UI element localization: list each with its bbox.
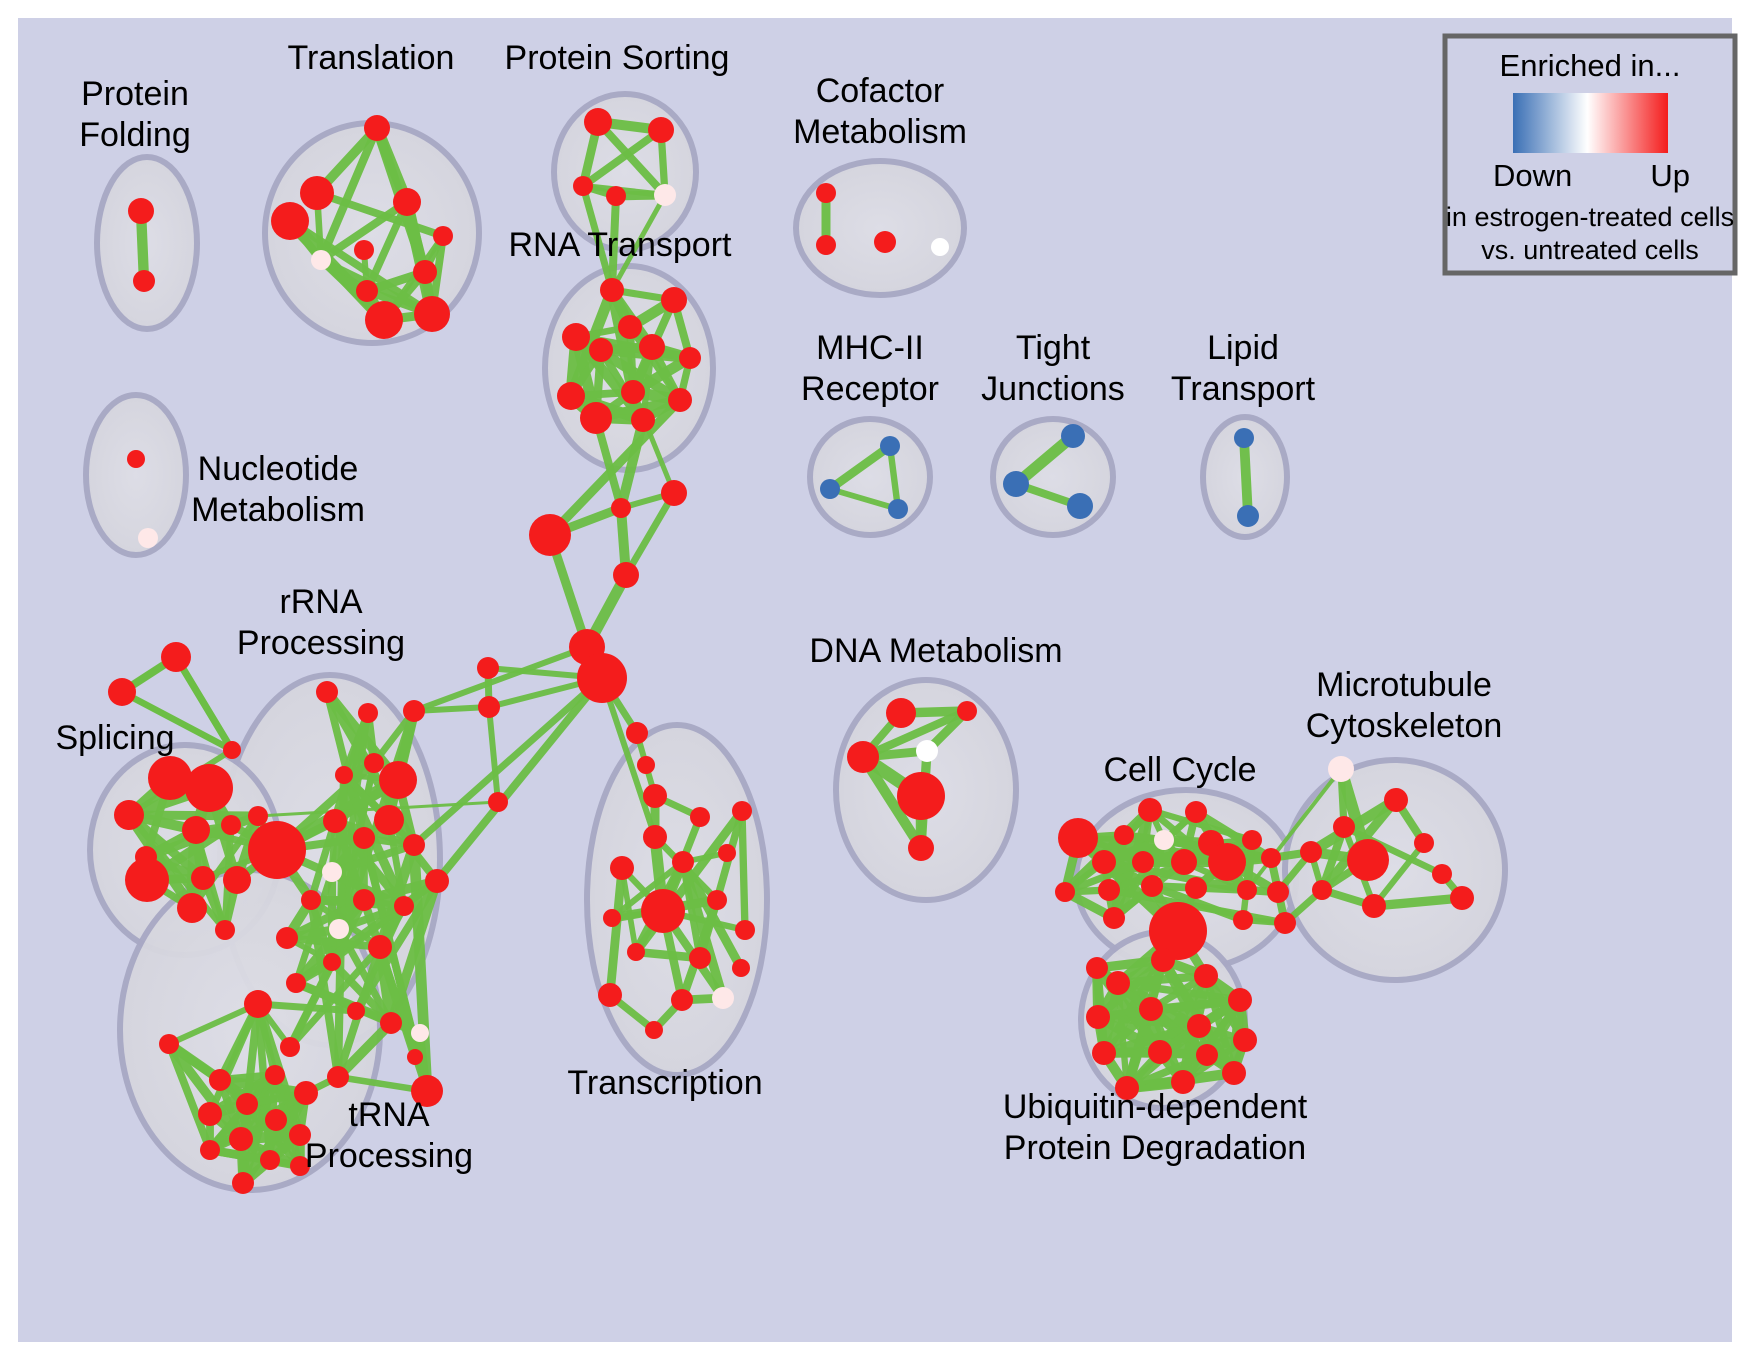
network-node xyxy=(1242,830,1262,850)
network-node xyxy=(908,835,934,861)
network-node xyxy=(433,226,453,246)
network-node xyxy=(1114,825,1134,845)
network-node xyxy=(354,240,374,260)
network-node xyxy=(584,108,612,136)
network-node xyxy=(1261,848,1281,868)
network-node xyxy=(286,973,306,993)
network-node xyxy=(185,764,233,812)
network-node xyxy=(626,722,648,744)
network-node xyxy=(1228,988,1252,1012)
network-node xyxy=(1098,879,1120,901)
network-node xyxy=(645,1021,663,1039)
network-node xyxy=(353,889,375,911)
network-node xyxy=(198,1102,222,1126)
network-node xyxy=(380,1012,402,1034)
network-node xyxy=(1234,428,1254,448)
network-node xyxy=(364,753,384,773)
network-node xyxy=(643,825,667,849)
network-node xyxy=(603,909,621,927)
network-node xyxy=(1362,894,1386,918)
network-node xyxy=(1151,948,1175,972)
network-node xyxy=(413,260,437,284)
network-node xyxy=(1171,849,1197,875)
network-node xyxy=(248,806,268,826)
network-node xyxy=(356,280,378,302)
network-node xyxy=(880,436,900,456)
network-node xyxy=(689,947,711,969)
network-node xyxy=(732,801,752,821)
network-node xyxy=(668,388,692,412)
network-node xyxy=(1450,886,1474,910)
network-node xyxy=(128,198,154,224)
cluster-label-translation: Translation xyxy=(288,39,455,77)
network-node xyxy=(191,866,215,890)
network-node xyxy=(200,1140,220,1160)
legend-title: Enriched in... xyxy=(1500,48,1681,83)
network-node xyxy=(236,1093,258,1115)
legend-up-label: Up xyxy=(1650,158,1690,193)
network-node xyxy=(621,380,645,404)
network-node xyxy=(161,642,191,672)
network-node xyxy=(1092,1041,1116,1065)
network-node xyxy=(1067,493,1093,519)
network-node xyxy=(276,927,298,949)
network-node xyxy=(335,766,353,784)
network-node xyxy=(1233,910,1253,930)
network-diagram: ProteinFoldingTranslationProtein Sorting… xyxy=(0,0,1750,1360)
network-node xyxy=(368,935,392,959)
network-node xyxy=(610,856,634,880)
network-node xyxy=(847,741,879,773)
network-node xyxy=(1237,880,1257,900)
cluster-mhc-ii-receptor xyxy=(810,419,930,535)
network-node xyxy=(600,278,624,302)
network-node xyxy=(690,807,710,827)
network-node xyxy=(1222,1061,1246,1085)
network-node xyxy=(820,479,840,499)
network-node xyxy=(138,528,158,548)
network-node xyxy=(1132,851,1154,873)
network-node xyxy=(127,450,145,468)
network-node xyxy=(403,700,425,722)
network-node xyxy=(403,834,425,856)
network-node xyxy=(323,809,347,833)
network-node xyxy=(114,800,144,830)
network-node xyxy=(300,176,334,210)
network-node xyxy=(488,792,508,812)
network-edge xyxy=(414,707,489,711)
network-node xyxy=(1139,997,1163,1021)
network-node xyxy=(125,858,169,902)
cluster-label-rna-transport: RNA Transport xyxy=(509,226,733,264)
network-node xyxy=(707,890,727,910)
network-node xyxy=(393,188,421,216)
network-node xyxy=(816,183,836,203)
network-node xyxy=(1148,1040,1172,1064)
network-node xyxy=(407,1049,423,1065)
network-node xyxy=(639,334,665,360)
network-node xyxy=(598,983,622,1007)
network-node xyxy=(322,862,342,882)
network-node xyxy=(1055,882,1075,902)
cluster-label-protein-sorting: Protein Sorting xyxy=(505,39,730,77)
network-node xyxy=(672,851,694,873)
network-node xyxy=(425,869,449,893)
network-edge xyxy=(1244,438,1248,516)
network-node xyxy=(874,231,896,253)
network-edge xyxy=(129,815,258,816)
network-node xyxy=(1208,843,1246,881)
network-node xyxy=(957,701,977,721)
network-node xyxy=(888,499,908,519)
network-node xyxy=(679,347,701,369)
network-node xyxy=(606,186,626,206)
network-node xyxy=(1103,907,1125,929)
network-node xyxy=(365,301,403,339)
network-node xyxy=(414,296,450,332)
network-node xyxy=(618,315,642,339)
network-node xyxy=(557,382,585,410)
network-edge xyxy=(742,811,745,930)
network-node xyxy=(1347,839,1389,881)
network-node xyxy=(1328,756,1354,782)
network-node xyxy=(1300,841,1322,863)
network-node xyxy=(1414,833,1434,853)
network-node xyxy=(301,890,321,910)
network-node xyxy=(1312,880,1332,900)
network-node xyxy=(209,1069,231,1091)
network-node xyxy=(1237,505,1259,527)
network-node xyxy=(271,202,309,240)
network-node xyxy=(311,250,331,270)
network-node xyxy=(1187,1014,1211,1038)
network-node xyxy=(260,1150,280,1170)
network-node xyxy=(648,117,674,143)
network-node xyxy=(294,1081,318,1105)
network-node xyxy=(265,1065,285,1085)
figure-canvas: ProteinFoldingTranslationProtein Sorting… xyxy=(0,0,1750,1360)
network-node xyxy=(1106,971,1130,995)
network-node xyxy=(244,990,272,1018)
legend-caption-line1: in estrogen-treated cells xyxy=(1446,202,1734,232)
network-node xyxy=(641,889,685,933)
network-node xyxy=(1274,912,1296,934)
network-node xyxy=(661,287,687,313)
network-node xyxy=(477,657,499,679)
network-node xyxy=(347,1002,365,1020)
network-node xyxy=(1196,1044,1218,1066)
network-node xyxy=(221,815,241,835)
network-node xyxy=(374,805,404,835)
network-node xyxy=(637,756,655,774)
network-node xyxy=(1194,964,1218,988)
network-node xyxy=(280,1037,300,1057)
network-node xyxy=(718,844,736,862)
network-node xyxy=(916,740,938,762)
network-node xyxy=(631,408,655,432)
network-node xyxy=(1086,1005,1110,1029)
cluster-nucleotide-metabolism xyxy=(86,395,186,555)
network-node xyxy=(329,919,349,939)
network-node xyxy=(1141,875,1163,897)
network-node xyxy=(573,176,593,196)
network-node xyxy=(562,323,590,351)
network-node xyxy=(1003,471,1029,497)
network-node xyxy=(182,816,210,844)
network-node xyxy=(735,920,755,940)
network-node xyxy=(353,827,375,849)
network-node xyxy=(931,238,949,256)
network-node xyxy=(1154,830,1174,850)
network-node xyxy=(327,1066,349,1088)
network-node xyxy=(661,480,687,506)
network-node xyxy=(1058,818,1098,858)
legend-down-label: Down xyxy=(1493,158,1572,193)
cluster-label-splicing: Splicing xyxy=(55,719,174,757)
network-node xyxy=(133,270,155,292)
cluster-label-cell-cycle: Cell Cycle xyxy=(1103,751,1256,789)
network-node xyxy=(1432,864,1452,884)
network-node xyxy=(316,681,338,703)
network-node xyxy=(394,896,414,916)
network-node xyxy=(611,498,631,518)
network-node xyxy=(108,678,136,706)
network-node xyxy=(148,756,192,800)
network-node xyxy=(732,959,750,977)
network-node xyxy=(1233,1028,1257,1052)
network-node xyxy=(1061,424,1085,448)
network-node xyxy=(613,562,639,588)
cluster-label-transcription: Transcription xyxy=(567,1064,762,1102)
legend-box: Enriched in... Down Up in estrogen-treat… xyxy=(1445,36,1735,273)
network-node xyxy=(712,987,734,1009)
network-node xyxy=(177,893,207,923)
network-node xyxy=(897,772,945,820)
network-node xyxy=(411,1024,429,1042)
network-node xyxy=(265,1109,287,1131)
network-node xyxy=(671,989,693,1011)
network-node xyxy=(1185,877,1207,899)
network-node xyxy=(627,943,645,961)
legend-color-bar xyxy=(1513,93,1668,153)
network-node xyxy=(654,184,676,206)
network-node xyxy=(643,784,667,808)
network-node xyxy=(1092,850,1116,874)
cluster-label-dna-metabolism: DNA Metabolism xyxy=(809,632,1062,670)
network-node xyxy=(589,338,613,362)
network-node xyxy=(232,1172,254,1194)
network-node xyxy=(577,653,627,703)
network-node xyxy=(215,920,235,940)
network-node xyxy=(580,402,612,434)
network-node xyxy=(248,821,306,879)
network-node xyxy=(364,115,390,141)
network-node xyxy=(1086,957,1108,979)
network-node xyxy=(229,1127,253,1151)
network-node xyxy=(478,696,500,718)
network-node xyxy=(159,1034,179,1054)
network-node xyxy=(1267,881,1289,903)
network-node xyxy=(886,698,916,728)
network-node xyxy=(816,235,836,255)
network-node xyxy=(1333,816,1355,838)
network-node xyxy=(358,703,378,723)
network-node xyxy=(1384,788,1408,812)
network-node xyxy=(223,741,241,759)
network-node xyxy=(1185,801,1207,823)
network-node xyxy=(223,866,251,894)
network-node xyxy=(1138,798,1162,822)
network-node xyxy=(323,953,341,971)
cluster-cofactor-metabolism xyxy=(796,161,964,295)
network-node xyxy=(379,761,417,799)
network-node xyxy=(529,514,571,556)
legend-caption-line2: vs. untreated cells xyxy=(1481,235,1699,265)
